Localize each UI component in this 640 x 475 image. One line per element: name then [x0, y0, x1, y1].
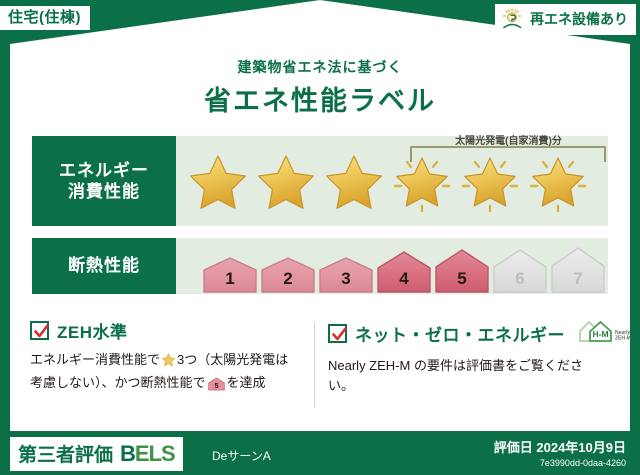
insulation-level-3: 3 — [318, 256, 374, 294]
zeh-panel-header: ZEH水準 — [30, 318, 298, 343]
insulation-level-5-number: 5 — [434, 269, 490, 289]
svg-text:5: 5 — [214, 381, 218, 390]
inline-house-badge: 5 — [208, 379, 225, 394]
bels-badge: 第三者評価 BELS — [10, 437, 183, 471]
zeh-checkbox[interactable] — [30, 321, 49, 340]
insulation-label-text: 断熱性能 — [68, 255, 140, 276]
zeh-panel-title: ZEH水準 — [57, 318, 128, 343]
insulation-level-5: 5 — [434, 248, 490, 294]
insulation-level-1-number: 1 — [202, 269, 258, 289]
star-solar-4 — [390, 150, 454, 212]
evaluation-date: 評価日 2024年10月9日 — [494, 437, 626, 456]
insulation-level-4-number: 4 — [376, 269, 432, 289]
solar-bracket-label: 太陽光発電(自家消費)分 — [406, 132, 611, 147]
bels-logo-b: B — [120, 441, 135, 466]
insulation-level-7: 7 — [550, 246, 606, 294]
energy-label-line1: エネルギー — [59, 160, 149, 181]
label-footer: 第三者評価 BELS DeサーンA 評価日 2024年10月9日 7e3990d… — [0, 431, 640, 475]
label-subtitle: 建築物省エネ法に基づく — [0, 57, 640, 77]
netzero-panel-text: Nearly ZEH-M の要件は評価書をご覧ください。 — [328, 356, 596, 396]
zeh-text-part3: を達成 — [227, 375, 266, 390]
insulation-performance-row: 断熱性能 — [32, 238, 608, 294]
energy-performance-label: 住宅(住棟) 再エネ設備あり 建築物省エネ法に基づく 省エネ性能 — [0, 0, 640, 475]
evaluation-id: 7e3990dd-0daa-4260 — [494, 458, 626, 468]
panel-divider — [314, 322, 315, 408]
sun-solar-icon — [501, 8, 525, 30]
label-title: 省エネ性能ラベル — [0, 79, 640, 118]
svg-text:ZEH-M: ZEH-M — [615, 336, 631, 342]
zeh-panel-text: エネルギー消費性能で3つ（太陽光発電は考慮しない）、かつ断熱性能で5を達成 — [30, 350, 298, 397]
insulation-level-2: 2 — [260, 256, 316, 294]
bels-logo-text: BELS — [120, 441, 175, 467]
svg-text:H-M: H-M — [592, 329, 608, 339]
building-type-tag-label: 住宅(住棟) — [8, 9, 81, 26]
evaluation-info: 評価日 2024年10月9日 7e3990dd-0daa-4260 — [494, 437, 626, 468]
energy-performance-label: エネルギー 消費性能 — [32, 136, 176, 226]
star-filled-2 — [254, 150, 318, 212]
insulation-level-6-number: 6 — [492, 269, 548, 289]
insulation-level-3-number: 3 — [318, 269, 374, 289]
star-filled-3 — [322, 150, 386, 212]
zeh-text-part1: エネルギー消費性能で — [30, 352, 160, 367]
netzero-panel-title: ネット・ゼロ・エネルギー — [355, 321, 565, 346]
net-zero-energy-panel: ネット・ゼロ・エネルギー H-M Nearly ZEH-M Nearly ZEH… — [328, 318, 596, 396]
energy-stars-area: 太陽光発電(自家消費)分 — [176, 136, 608, 226]
star-solar-6 — [526, 150, 590, 212]
netzero-checkbox[interactable] — [328, 324, 347, 343]
star-rating — [176, 150, 590, 212]
building-name: DeサーンA — [212, 447, 271, 464]
energy-label-line2: 消費性能 — [68, 181, 140, 202]
insulation-level-2-number: 2 — [260, 269, 316, 289]
renewable-tag-label: 再エネ設備あり — [530, 12, 628, 26]
insulation-level-scale: 1 2 3 4 — [176, 238, 606, 294]
inline-star-icon — [161, 355, 176, 370]
nearly-zeh-m-logo-icon: H-M Nearly ZEH-M — [577, 318, 635, 349]
bels-logo-els: ELS — [135, 441, 175, 466]
renewable-equipment-tag: 再エネ設備あり — [495, 4, 636, 35]
energy-performance-row: エネルギー 消費性能 太陽光発電(自家消費)分 — [32, 136, 608, 226]
star-filled-1 — [186, 150, 250, 212]
zeh-standard-panel: ZEH水準 エネルギー消費性能で3つ（太陽光発電は考慮しない）、かつ断熱性能で5… — [30, 318, 298, 397]
insulation-level-7-number: 7 — [550, 269, 606, 289]
building-type-tag: 住宅(住棟) — [0, 6, 90, 30]
insulation-levels-area: 1 2 3 4 — [176, 238, 608, 294]
insulation-level-1: 1 — [202, 256, 258, 294]
insulation-level-4: 4 — [376, 250, 432, 294]
insulation-performance-label: 断熱性能 — [32, 238, 176, 294]
insulation-level-6: 6 — [492, 248, 548, 294]
netzero-panel-header: ネット・ゼロ・エネルギー H-M Nearly ZEH-M — [328, 318, 596, 349]
star-solar-5 — [458, 150, 522, 212]
bels-jp-text: 第三者評価 — [18, 440, 113, 467]
